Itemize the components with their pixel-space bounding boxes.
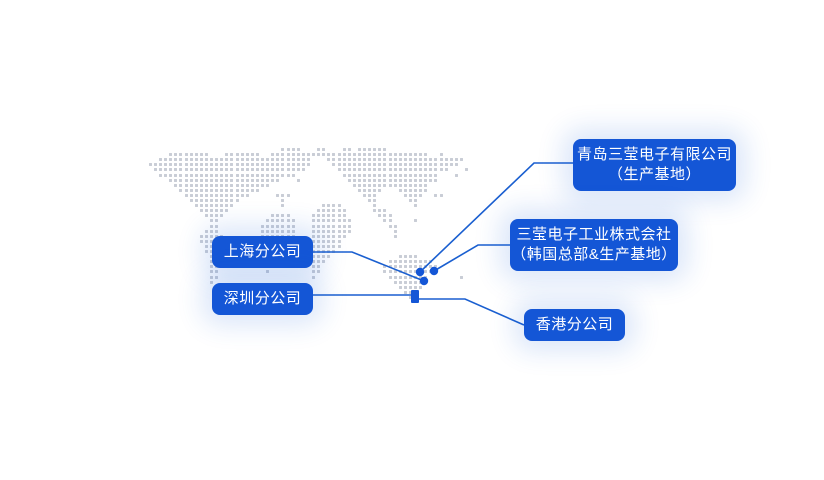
connector-lines — [0, 0, 824, 480]
map-infographic: 青岛三莹电子有限公司 （生产基地） 三莹电子工业株式会社 （韩国总部&生产基地）… — [0, 0, 824, 480]
site-marker-qingdao — [416, 268, 424, 276]
site-marker-korea — [430, 267, 438, 275]
label-qingdao-line2: （生产基地） — [608, 165, 701, 185]
label-shenzhen[interactable]: 深圳分公司 — [212, 283, 313, 315]
label-qingdao-line1: 青岛三莹电子有限公司 — [577, 145, 732, 165]
connector-hongkong — [415, 299, 524, 325]
site-marker-shanghai — [420, 277, 428, 285]
connector-shanghai — [313, 252, 424, 281]
label-korea-line2: （韩国总部&生产基地） — [511, 245, 677, 265]
label-shanghai-text: 上海分公司 — [224, 242, 302, 262]
label-shenzhen-text: 深圳分公司 — [224, 289, 302, 309]
label-shanghai[interactable]: 上海分公司 — [212, 236, 313, 268]
label-qingdao[interactable]: 青岛三莹电子有限公司 （生产基地） — [573, 139, 736, 191]
label-hongkong-text: 香港分公司 — [536, 315, 614, 335]
site-marker-hongkong — [411, 296, 419, 303]
label-korea-line1: 三莹电子工业株式会社 — [516, 225, 671, 245]
connector-korea — [434, 245, 510, 271]
label-korea-hq[interactable]: 三莹电子工业株式会社 （韩国总部&生产基地） — [510, 219, 678, 271]
label-hongkong[interactable]: 香港分公司 — [524, 309, 625, 341]
